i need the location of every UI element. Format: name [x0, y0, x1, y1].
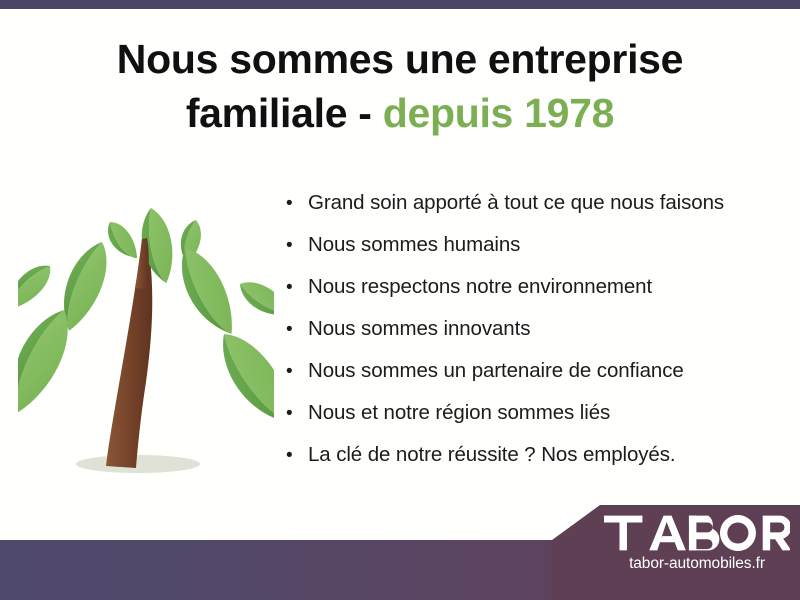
bullet-marker-icon: • [286, 194, 308, 213]
list-item-label: Nous sommes innovants [308, 319, 756, 340]
page-title-accent: depuis 1978 [383, 90, 614, 136]
page-title-line-2: familiale - depuis 1978 [40, 86, 760, 140]
list-item: • Nous et notre région sommes liés [286, 403, 756, 445]
tabor-wordmark-icon [604, 513, 790, 553]
bullet-list: • Grand soin apporté à tout ce que nous … [286, 193, 756, 487]
bullet-marker-icon: • [286, 404, 308, 423]
bullet-marker-icon: • [286, 236, 308, 255]
list-item-label: Nous sommes humains [308, 235, 756, 256]
top-accent-band [0, 0, 800, 9]
slide-canvas: Nous sommes une entreprise familiale - d… [0, 0, 800, 600]
bullet-marker-icon: • [286, 362, 308, 381]
list-item-label: Grand soin apporté à tout ce que nous fa… [308, 193, 756, 214]
page-title-line-1: Nous sommes une entreprise [40, 32, 760, 86]
tree-leaf-9 [210, 321, 274, 438]
tree-trunk-tip [135, 238, 149, 289]
list-item: • Grand soin apporté à tout ce que nous … [286, 193, 756, 235]
list-item-label: Nous respectons notre environnement [308, 277, 756, 298]
bullet-marker-icon: • [286, 278, 308, 297]
list-item: • Nous respectons notre environnement [286, 277, 756, 319]
list-item: • Nous sommes innovants [286, 319, 756, 361]
list-item: • Nous sommes un partenaire de confiance [286, 361, 756, 403]
list-item-label: Nous et notre région sommes liés [308, 403, 756, 424]
tree-leaf-5 [172, 240, 241, 343]
list-item-label: Nous sommes un partenaire de confiance [308, 361, 756, 382]
tree-leaf-1 [103, 217, 140, 266]
tree-ground-shadow [76, 455, 200, 473]
list-item: • La clé de notre réussite ? Nos employé… [286, 445, 756, 487]
bullet-marker-icon: • [286, 446, 308, 465]
page-title-line-2-prefix: familiale - [186, 90, 372, 136]
list-item-label: La clé de notre réussite ? Nos employés. [308, 445, 756, 466]
brand-logo: tabor-automobiles.fr [604, 513, 790, 573]
tree-leaf-6 [18, 259, 59, 314]
page-title: Nous sommes une entreprise familiale - d… [40, 32, 760, 140]
bullet-marker-icon: • [286, 320, 308, 339]
tree-leaf-7 [234, 272, 274, 327]
brand-url: tabor-automobiles.fr [604, 555, 790, 573]
tree-illustration [18, 176, 274, 492]
list-item: • Nous sommes humains [286, 235, 756, 277]
